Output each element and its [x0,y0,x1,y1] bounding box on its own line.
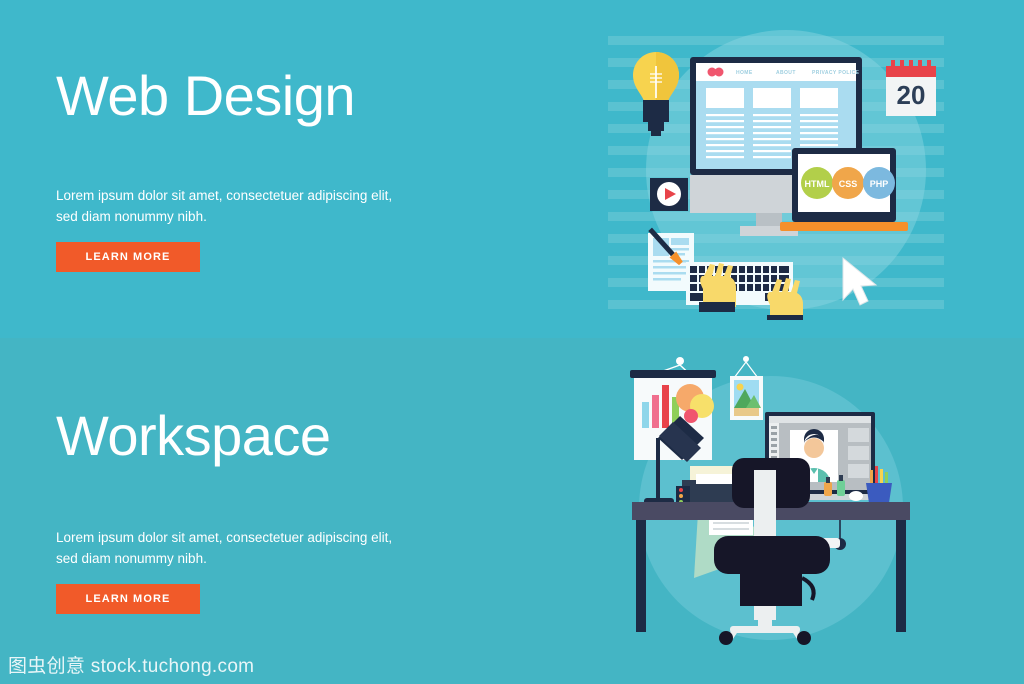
monitor-nav-privacy: PRIVACY POLICE [812,70,860,76]
learn-more-button[interactable]: LEARN MORE [56,584,200,614]
workspace-illustration [618,340,924,646]
page-title: Web Design [56,68,355,124]
calendar-day: 20 [897,80,926,110]
watermark-domain: stock.tuchong.com [91,656,255,677]
monitor-nav-home: HOME [736,70,753,76]
banner-workspace: Workspace Lorem ipsum dolor sit amet, co… [0,338,1024,684]
banner-body-text: Lorem ipsum dolor sit amet, consectetuer… [56,528,406,570]
page-title: Workspace [56,408,331,464]
calendar-icon: 20 [886,60,936,116]
learn-more-button[interactable]: LEARN MORE [56,242,200,272]
badge-php: PHP [870,179,889,189]
watermark: 图虫创意 stock.tuchong.com [8,651,254,678]
laptop-icon: HTML CSS PHP [780,148,908,231]
badge-html: HTML [805,179,830,189]
monitor-nav-about: ABOUT [776,70,796,76]
web-design-illustration-svg: HOME ABOUT PRIVACY POLICE [608,30,944,320]
banner-body-text: Lorem ipsum dolor sit amet, consectetuer… [56,186,406,228]
video-play-icon[interactable] [650,178,688,211]
web-design-illustration: HOME ABOUT PRIVACY POLICE [608,30,944,320]
watermark-brand: 图虫创意 [8,655,85,677]
badge-css: CSS [839,179,858,189]
banner-web-design: Web Design Lorem ipsum dolor sit amet, c… [0,0,1024,338]
tech-badges: HTML CSS PHP [801,167,895,199]
monitor-right-panels [848,428,869,478]
workspace-illustration-svg [618,340,924,646]
